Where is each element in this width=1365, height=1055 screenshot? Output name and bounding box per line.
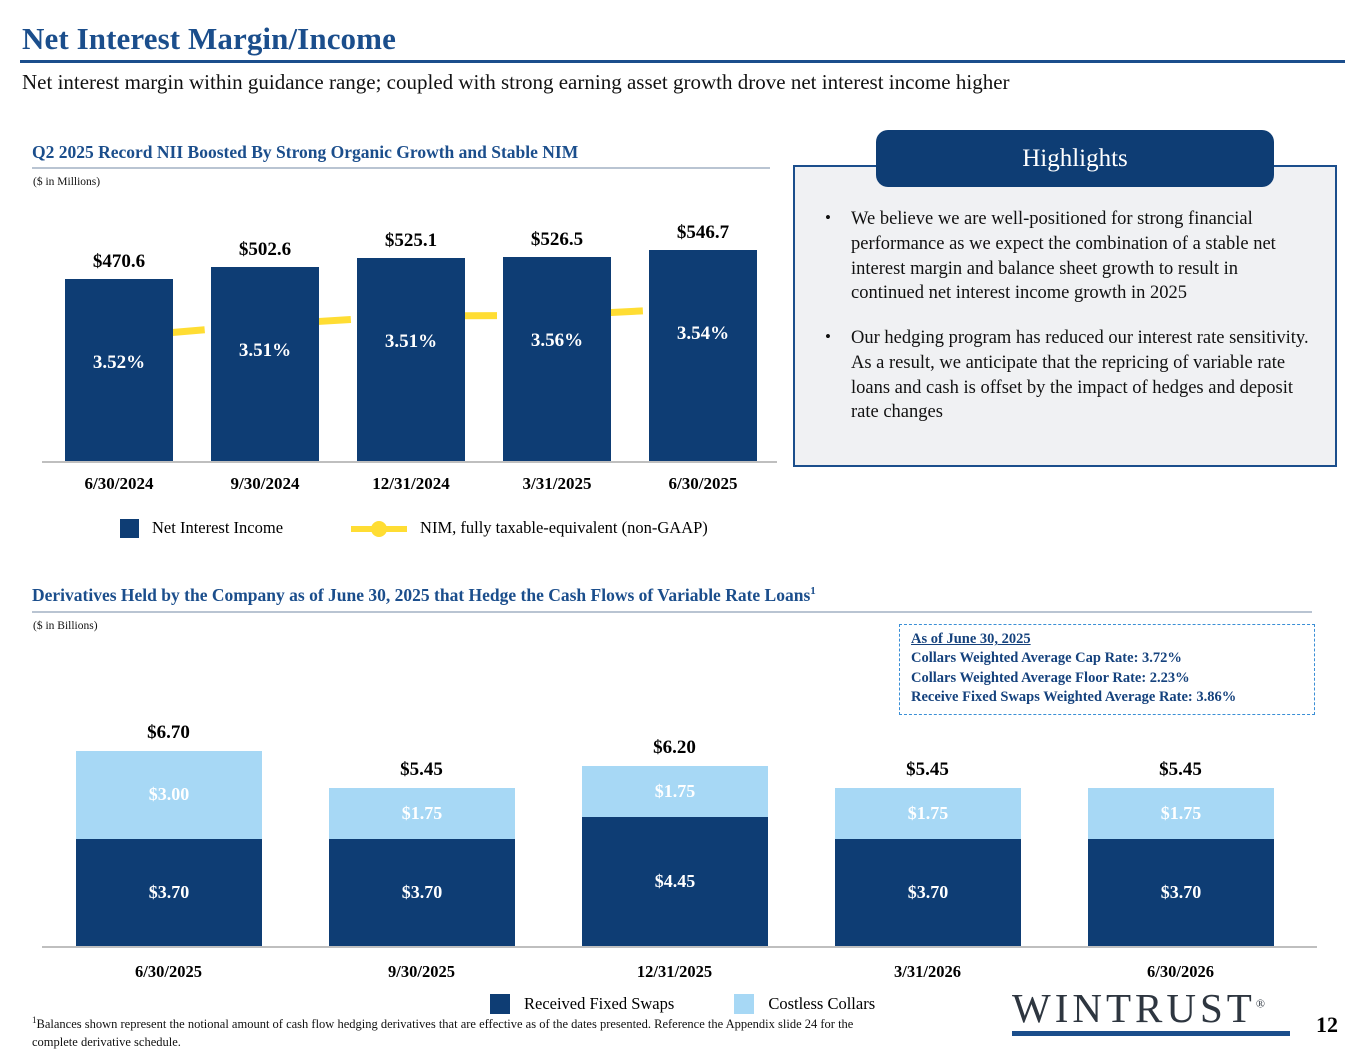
title-divider	[20, 60, 1345, 63]
nii-units-label: ($ in Millions)	[33, 176, 100, 188]
bar-value-label: $525.1	[338, 230, 484, 252]
derivatives-section-divider	[32, 611, 1312, 613]
derivatives-units-label: ($ in Billions)	[33, 620, 98, 632]
bullet-icon: •	[825, 207, 851, 306]
stacked-bar-total-label: $6.20	[548, 737, 801, 759]
bar-segment-costless-collars: $1.75	[329, 788, 515, 839]
nim-value-label: 3.52%	[46, 352, 192, 374]
legend-item-costless-collars: Costless Collars	[734, 994, 875, 1014]
legend-swatch-collars-icon	[734, 994, 754, 1014]
callout-cap-rate: Collars Weighted Average Cap Rate: 3.72%	[911, 649, 1305, 668]
bar-net-interest-income	[211, 267, 319, 461]
stacked-bar-total-label: $5.45	[1054, 759, 1307, 781]
stacked-bar: $1.75$3.70	[329, 788, 515, 946]
legend-swatch-swaps-icon	[490, 994, 510, 1014]
bar-net-interest-income	[357, 258, 465, 461]
legend-label-costless-collars: Costless Collars	[768, 994, 875, 1014]
bar-net-interest-income	[649, 250, 757, 461]
derivatives-title-footnote-marker: 1	[810, 585, 816, 597]
bullet-icon: •	[825, 326, 851, 425]
bar-segment-costless-collars: $1.75	[582, 766, 768, 817]
logo-name: WINTRUST	[1012, 985, 1256, 1031]
nii-nim-chart: $470.63.52%6/30/2024$502.63.51%9/30/2024…	[32, 190, 777, 500]
registered-mark-icon: ®	[1256, 996, 1269, 1010]
callout-floor-rate: Collars Weighted Average Floor Rate: 2.2…	[911, 669, 1305, 688]
chart1-x-label: 9/30/2024	[192, 474, 338, 494]
stacked-bar: $3.00$3.70	[76, 751, 262, 946]
stacked-bar-total-label: $5.45	[801, 759, 1054, 781]
highlight-text: We believe we are well-positioned for st…	[851, 207, 1315, 306]
legend-item-net-interest-income: Net Interest Income	[120, 518, 283, 538]
bar-segment-received-fixed-swaps: $3.70	[76, 839, 262, 947]
nim-value-label: 3.51%	[192, 340, 338, 362]
legend-label-net-interest-income: Net Interest Income	[152, 518, 283, 538]
legend-label-received-fixed-swaps: Received Fixed Swaps	[524, 994, 674, 1014]
page-number: 12	[1316, 1012, 1338, 1038]
nim-value-label: 3.54%	[630, 323, 776, 345]
bar-segment-received-fixed-swaps: $4.45	[582, 817, 768, 946]
chart1-x-label: 3/31/2025	[484, 474, 630, 494]
bar-segment-costless-collars: $1.75	[1088, 788, 1274, 839]
legend-item-received-fixed-swaps: Received Fixed Swaps	[490, 994, 674, 1014]
nim-value-label: 3.56%	[484, 330, 630, 352]
bar-segment-received-fixed-swaps: $3.70	[835, 839, 1021, 947]
stacked-bar: $1.75$3.70	[835, 788, 1021, 946]
stacked-bar-total-label: $6.70	[42, 722, 295, 744]
bar-segment-received-fixed-swaps: $3.70	[329, 839, 515, 947]
bar-value-label: $470.6	[46, 251, 192, 273]
legend-item-nim: NIM, fully taxable-equivalent (non-GAAP)	[351, 518, 708, 538]
nii-section-divider	[32, 167, 770, 169]
chart2-x-label: 12/31/2025	[548, 962, 801, 982]
stacked-bar: $1.75$3.70	[1088, 788, 1274, 946]
chart2-x-label: 3/31/2026	[801, 962, 1054, 982]
wintrust-logo: WINTRUST®	[1012, 988, 1302, 1036]
nii-chart-title: Q2 2025 Record NII Boosted By Strong Org…	[32, 142, 578, 163]
chart1-x-label: 12/31/2024	[338, 474, 484, 494]
derivatives-title-text: Derivatives Held by the Company as of Ju…	[32, 585, 810, 605]
legend-swatch-square-icon	[120, 519, 139, 538]
bar-value-label: $502.6	[192, 239, 338, 261]
stacked-bar-total-label: $5.45	[295, 759, 548, 781]
highlights-header: Highlights	[876, 130, 1274, 187]
chart2-x-label: 6/30/2025	[42, 962, 295, 982]
chart1-x-label: 6/30/2025	[630, 474, 776, 494]
derivatives-chart-title: Derivatives Held by the Company as of Ju…	[32, 585, 816, 606]
nim-value-label: 3.51%	[338, 331, 484, 353]
nii-chart-legend: Net Interest Income NIM, fully taxable-e…	[120, 518, 708, 538]
derivatives-stacked-chart: $3.00$3.70$6.706/30/2025$1.75$3.70$5.459…	[32, 690, 1317, 990]
logo-wordmark: WINTRUST®	[1012, 988, 1302, 1029]
highlights-bullet-list: • We believe we are well-positioned for …	[825, 207, 1315, 445]
footnote-text: Balances shown represent the notional am…	[32, 1017, 853, 1049]
chart2-x-axis	[42, 946, 1317, 948]
highlight-text: Our hedging program has reduced our inte…	[851, 326, 1315, 425]
bar-segment-costless-collars: $1.75	[835, 788, 1021, 839]
page-title: Net Interest Margin/Income	[22, 21, 396, 57]
callout-as-of-date: As of June 30, 2025	[911, 630, 1305, 649]
bar-value-label: $526.5	[484, 229, 630, 251]
bar-segment-costless-collars: $3.00	[76, 751, 262, 838]
list-item: • We believe we are well-positioned for …	[825, 207, 1315, 306]
chart2-x-label: 9/30/2025	[295, 962, 548, 982]
legend-swatch-line-dot-icon	[351, 519, 407, 538]
chart2-x-label: 6/30/2026	[1054, 962, 1307, 982]
legend-label-nim: NIM, fully taxable-equivalent (non-GAAP)	[420, 518, 708, 538]
logo-underline	[1012, 1031, 1290, 1036]
bar-segment-received-fixed-swaps: $3.70	[1088, 839, 1274, 947]
derivatives-chart-legend: Received Fixed Swaps Costless Collars	[490, 994, 875, 1014]
chart1-x-axis	[42, 461, 777, 463]
footnote: 1Balances shown represent the notional a…	[32, 1014, 892, 1051]
list-item: • Our hedging program has reduced our in…	[825, 326, 1315, 425]
stacked-bar: $1.75$4.45	[582, 766, 768, 946]
bar-net-interest-income	[503, 257, 611, 461]
bar-value-label: $546.7	[630, 222, 776, 244]
chart1-x-label: 6/30/2024	[46, 474, 192, 494]
page-subtitle: Net interest margin within guidance rang…	[22, 70, 1010, 95]
